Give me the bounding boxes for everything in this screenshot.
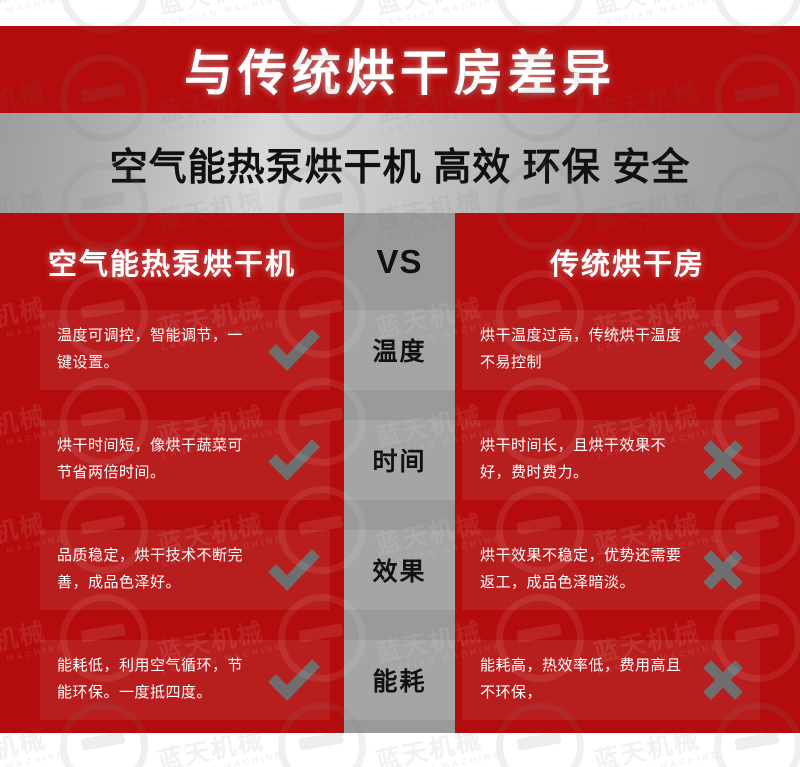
con-cell: 烘干温度过高，传统烘干温度不易控制 bbox=[462, 310, 760, 390]
header-label-pro: 空气能热泵烘干机 bbox=[48, 241, 296, 283]
cross-icon bbox=[699, 328, 747, 372]
table-row: 烘干时间短，像烘干蔬菜可节省两倍时间。 时间 烘干时间长，且烘干效果不好，费时费… bbox=[0, 420, 800, 500]
con-text: 烘干效果不稳定，优势还需要返工，成品色泽暗淡。 bbox=[480, 542, 685, 596]
table-header-right: 传统烘干房 bbox=[455, 213, 800, 310]
criterion-cell: 时间 bbox=[344, 420, 455, 500]
header-label-vs: VS bbox=[376, 243, 422, 281]
pro-cell: 能耗低，利用空气循环，节能环保。一度抵四度。 bbox=[40, 640, 330, 720]
table-row: 能耗低，利用空气循环，节能环保。一度抵四度。 能耗 能耗高，热效率低，费用高且不… bbox=[0, 640, 800, 720]
page-title: 与传统烘干房差异 bbox=[184, 34, 616, 105]
criterion-label: 温度 bbox=[344, 310, 455, 390]
cross-icon bbox=[699, 658, 747, 702]
table-row: 温度可调控，智能调节，一键设置。 温度 烘干温度过高，传统烘干温度不易控制 bbox=[0, 310, 800, 390]
con-text: 能耗高，热效率低，费用高且不环保， bbox=[480, 652, 685, 706]
pro-cell: 品质稳定，烘干技术不断完善，成品色泽好。 bbox=[40, 530, 330, 610]
con-cell: 烘干时间长，且烘干效果不好，费时费力。 bbox=[462, 420, 760, 500]
bottom-white-strip bbox=[0, 733, 800, 767]
promo-comparison-page: 与传统烘干房差异 空气能热泵烘干机 高效 环保 安全 空气能热泵烘干机 VS 传… bbox=[0, 0, 800, 767]
con-cell: 能耗高，热效率低，费用高且不环保， bbox=[462, 640, 760, 720]
pro-cell: 烘干时间短，像烘干蔬菜可节省两倍时间。 bbox=[40, 420, 330, 500]
criterion-label: 效果 bbox=[344, 530, 455, 610]
pro-text: 品质稳定，烘干技术不断完善，成品色泽好。 bbox=[57, 542, 247, 596]
check-icon bbox=[268, 438, 320, 482]
top-white-strip bbox=[0, 0, 800, 26]
header-label-con: 传统烘干房 bbox=[550, 241, 705, 283]
cross-icon bbox=[699, 438, 747, 482]
comparison-table: 空气能热泵烘干机 VS 传统烘干房 温度可调控，智能调节，一键设置。 温度 烘干… bbox=[0, 213, 800, 733]
subtitle-text: 空气能热泵烘干机 高效 环保 安全 bbox=[110, 136, 691, 191]
criterion-label: 时间 bbox=[344, 420, 455, 500]
con-text: 烘干温度过高，传统烘干温度不易控制 bbox=[480, 322, 685, 376]
con-cell: 烘干效果不稳定，优势还需要返工，成品色泽暗淡。 bbox=[462, 530, 760, 610]
table-header-center: VS bbox=[344, 213, 455, 310]
con-text: 烘干时间长，且烘干效果不好，费时费力。 bbox=[480, 432, 685, 486]
criterion-cell: 能耗 bbox=[344, 640, 455, 720]
check-icon bbox=[268, 548, 320, 592]
cross-icon bbox=[699, 548, 747, 592]
check-icon bbox=[268, 658, 320, 702]
check-icon bbox=[268, 328, 320, 372]
pro-cell: 温度可调控，智能调节，一键设置。 bbox=[40, 310, 330, 390]
criterion-cell: 温度 bbox=[344, 310, 455, 390]
table-row: 品质稳定，烘干技术不断完善，成品色泽好。 效果 烘干效果不稳定，优势还需要返工，… bbox=[0, 530, 800, 610]
subtitle-band: 空气能热泵烘干机 高效 环保 安全 bbox=[0, 113, 800, 213]
title-banner: 与传统烘干房差异 bbox=[0, 26, 800, 113]
criterion-label: 能耗 bbox=[344, 640, 455, 720]
pro-text: 能耗低，利用空气循环，节能环保。一度抵四度。 bbox=[57, 652, 247, 706]
table-header-left: 空气能热泵烘干机 bbox=[0, 213, 344, 310]
pro-text: 烘干时间短，像烘干蔬菜可节省两倍时间。 bbox=[57, 432, 247, 486]
criterion-cell: 效果 bbox=[344, 530, 455, 610]
pro-text: 温度可调控，智能调节，一键设置。 bbox=[57, 322, 247, 376]
